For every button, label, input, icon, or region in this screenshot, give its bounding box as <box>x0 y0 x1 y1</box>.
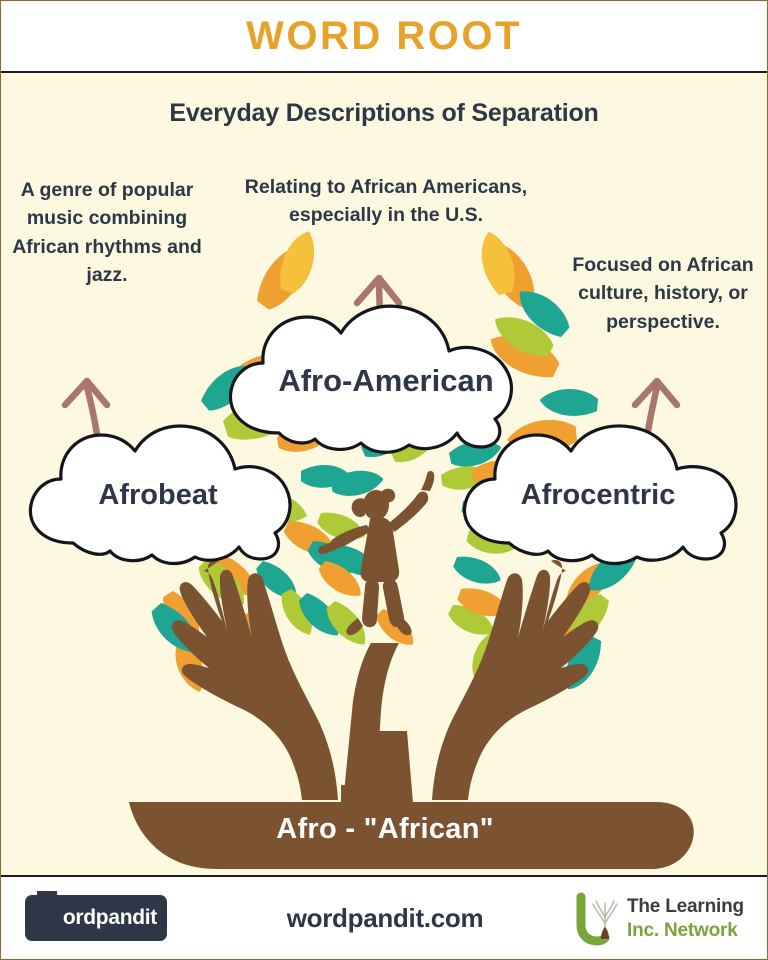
brand-tree-icon <box>571 891 627 947</box>
cloud-afrocentric[interactable]: Afrocentric <box>453 421 743 569</box>
root-banner-label: Afro - "African" <box>1 813 768 846</box>
cloud-afrobeat[interactable]: Afrobeat <box>19 421 297 569</box>
description-afro-american: Relating to African Americans, especiall… <box>236 173 536 230</box>
brand-line-1: The Learning <box>627 896 744 918</box>
infographic-page: WORD ROOT Everyday Descriptions of Separ… <box>0 0 768 960</box>
brand-line-2: Inc. Network <box>627 920 738 942</box>
page-title: WORD ROOT <box>246 16 522 56</box>
description-afrocentric: Focused on African culture, history, or … <box>563 251 763 336</box>
footer-bar: ordpandit wordpandit.com The Learning In… <box>1 875 767 959</box>
subtitle: Everyday Descriptions of Separation <box>1 99 767 128</box>
wordpandit-logo-text: ordpandit <box>63 906 157 930</box>
description-afrobeat: A genre of popular music combining Afric… <box>9 176 205 289</box>
header-bar: WORD ROOT <box>1 1 767 73</box>
learning-inc-network-logo[interactable]: The Learning Inc. Network <box>571 891 747 947</box>
